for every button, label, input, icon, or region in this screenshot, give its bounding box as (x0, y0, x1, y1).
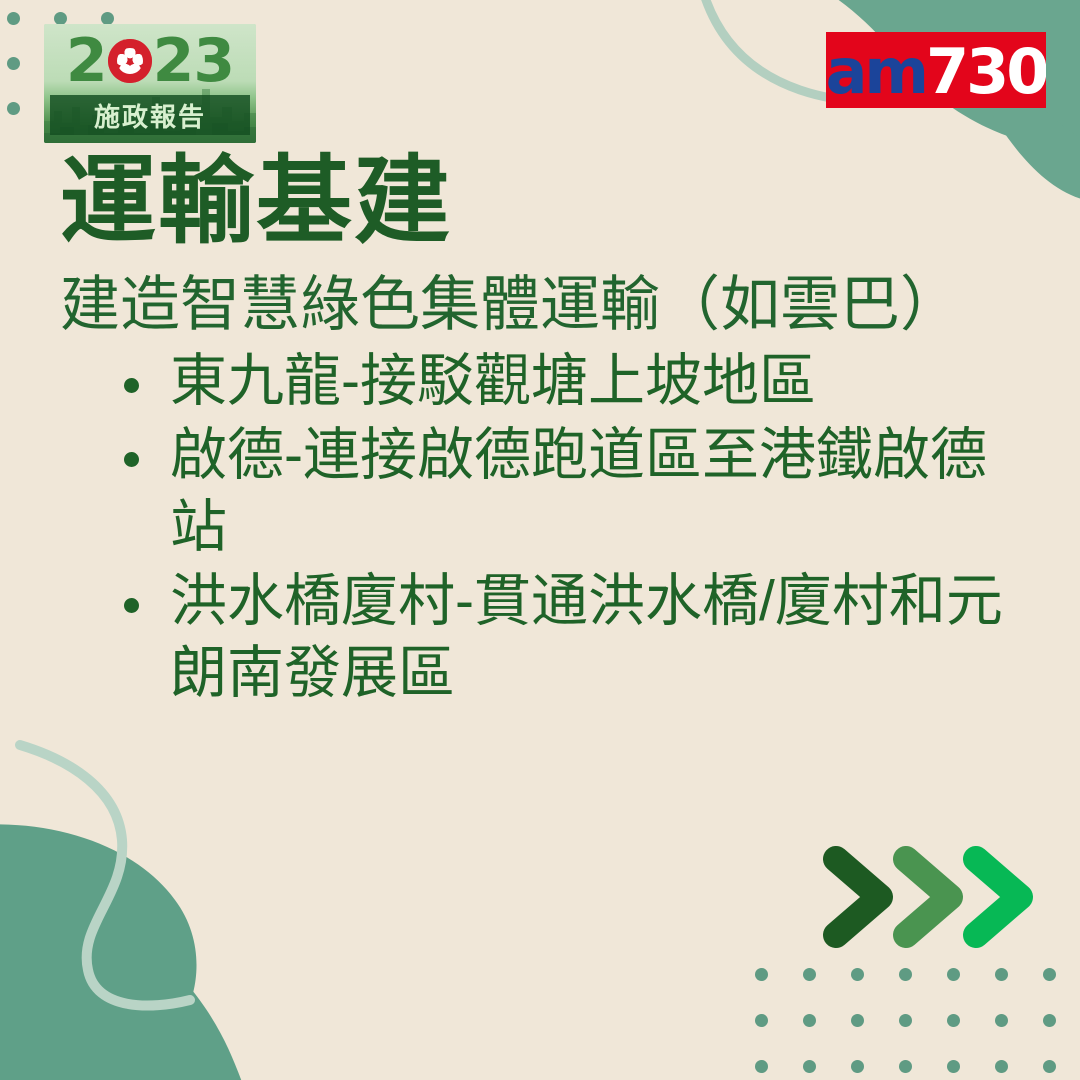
main-content: 運輸基建 建造智慧綠色集體運輸（如雲巴） 東九龍-接駁觀塘上坡地區 啟德-連接啟… (0, 150, 1080, 712)
decorative-dot (7, 57, 20, 70)
list-item: 東九龍-接駁觀塘上坡地區 (0, 346, 1080, 418)
decorative-dot (803, 1014, 816, 1027)
logo-year: 223 (44, 26, 256, 96)
decorative-dot (995, 1060, 1008, 1073)
policy-address-2023-logo: 223 施政報告 (44, 24, 256, 143)
am730-number: 730 (926, 35, 1046, 108)
logo-year-prefix: 2 (66, 26, 107, 96)
page-title: 運輸基建 (0, 150, 1080, 254)
list-item: 啟德-連接啟德跑道區至港鐵啟德站 (0, 420, 1080, 564)
hong-kong-bauhinia-emblem (108, 39, 152, 83)
decorative-dot (7, 102, 20, 115)
blob-bottom-left-upper (0, 824, 197, 1020)
policy-address-band-label: 施政報告 (50, 95, 250, 135)
am730-logo[interactable]: am730 (826, 32, 1046, 108)
blob-bottom-left (0, 893, 245, 1080)
decorative-dot (851, 1014, 864, 1027)
decorative-dot (803, 1060, 816, 1073)
wave-line-bottom (20, 745, 190, 1006)
decorative-dot (851, 1060, 864, 1073)
infographic-poster: 223 施政報告 am730 運輸基建 建造智慧綠色集體運輸（如雲巴） 東九龍-… (0, 0, 1080, 1080)
decorative-dot (947, 1060, 960, 1073)
chevron-right-icon-3 (960, 845, 1038, 949)
decorative-dot (947, 1014, 960, 1027)
decorative-dot (1043, 1014, 1056, 1027)
bullet-list: 東九龍-接駁觀塘上坡地區 啟德-連接啟德跑道區至港鐵啟德站 洪水橋廈村-貫通洪水… (0, 346, 1080, 709)
decorative-dot (755, 1014, 768, 1027)
chevron-right-icon-2 (890, 845, 968, 949)
decorative-dot (995, 1014, 1008, 1027)
decorative-dot (803, 968, 816, 981)
decorative-dot (899, 1014, 912, 1027)
chevron-right-icon-1 (820, 845, 898, 949)
decorative-dot (851, 968, 864, 981)
decorative-dot (947, 968, 960, 981)
am730-prefix: am (826, 35, 926, 108)
list-item: 洪水橋廈村-貫通洪水橋/廈村和元朗南發展區 (0, 566, 1080, 710)
decorative-dot (1043, 1060, 1056, 1073)
chevron-arrows-group (820, 845, 1050, 955)
decorative-dot (899, 1060, 912, 1073)
decorative-dot (755, 968, 768, 981)
lead-statement: 建造智慧綠色集體運輸（如雲巴） (0, 270, 1080, 341)
decorative-dot (7, 12, 20, 25)
decorative-dot (995, 968, 1008, 981)
decorative-dot (899, 968, 912, 981)
am730-wordmark: am730 (826, 41, 1046, 103)
decorative-dot (755, 1060, 768, 1073)
logo-year-suffix: 23 (153, 26, 235, 96)
decorative-dot (1043, 968, 1056, 981)
